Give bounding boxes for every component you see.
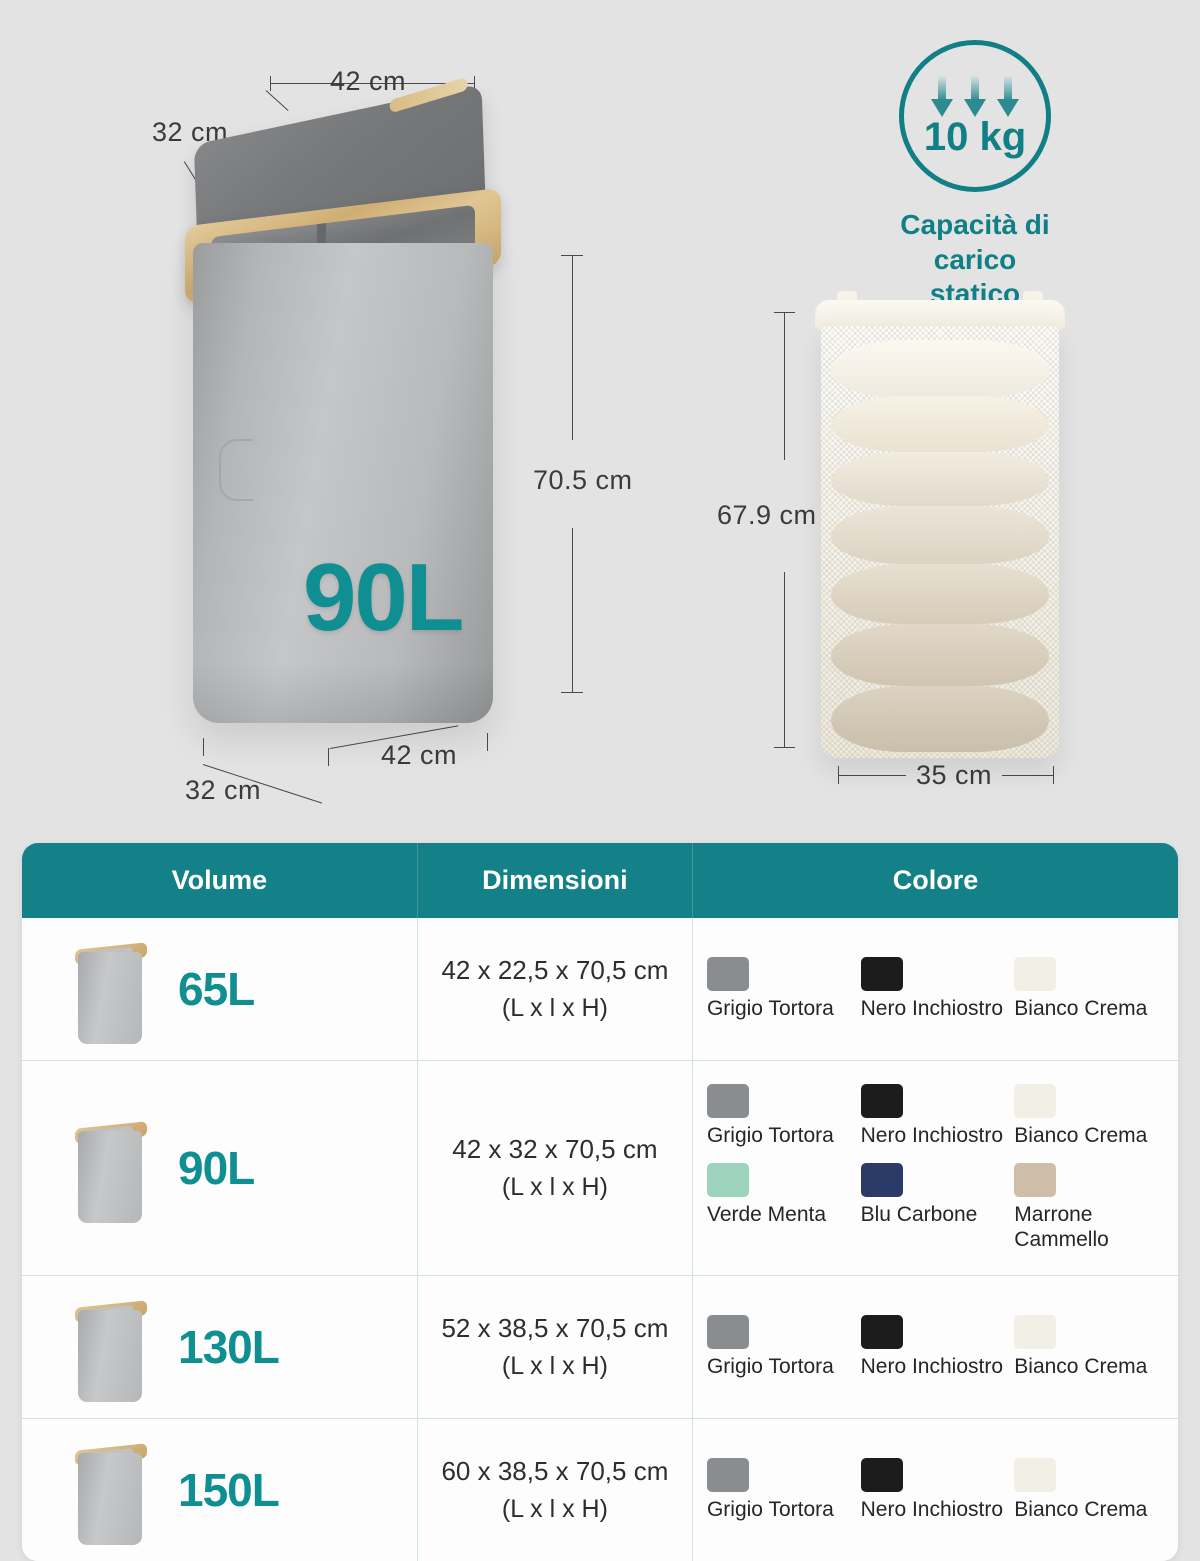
arrow-down-icon	[997, 75, 1019, 117]
volume-cell: 150L	[22, 1419, 417, 1561]
color-swatch[interactable]	[1014, 1315, 1056, 1349]
dimensions-value: 42 x 32 x 70,5 cm	[424, 1130, 686, 1169]
dimensions-cell: 52 x 38,5 x 70,5 cm(L x l x H)	[417, 1276, 692, 1419]
height-rule-upper	[572, 255, 573, 440]
color-swatch[interactable]	[707, 957, 749, 991]
volume-value: 130L	[178, 1320, 279, 1374]
volume-cell: 65L	[22, 918, 417, 1061]
colors-cell: Grigio TortoraNero InchiostroBianco Crem…	[692, 918, 1178, 1061]
column-header-volume: Volume	[22, 843, 417, 918]
bag-height-rule-upper	[784, 312, 785, 460]
arrow-down-icon	[931, 75, 953, 117]
column-header-colore: Colore	[692, 843, 1178, 918]
color-option[interactable]: Grigio Tortora	[707, 1077, 861, 1156]
color-swatch[interactable]	[861, 1458, 903, 1492]
volume-value: 90L	[178, 1141, 254, 1195]
colors-cell: Grigio TortoraNero InchiostroBianco Crem…	[692, 1276, 1178, 1419]
colors-cell: Grigio TortoraNero InchiostroBianco Crem…	[692, 1419, 1178, 1561]
color-name: Blu Carbone	[861, 1203, 1007, 1228]
dim-bag-width: 35 cm	[906, 760, 1002, 791]
hamper-body: 90L	[193, 243, 493, 723]
load-arrows-group	[931, 75, 1019, 117]
volume-value: 150L	[178, 1463, 279, 1517]
width-top-tick-left	[270, 76, 271, 91]
dim-depth-bottom: 32 cm	[185, 775, 261, 806]
color-swatch[interactable]	[707, 1315, 749, 1349]
table-row: 130L52 x 38,5 x 70,5 cm(L x l x H)Grigio…	[22, 1276, 1178, 1419]
color-name: Bianco Crema	[1014, 1498, 1160, 1523]
color-name: Nero Inchiostro	[861, 1355, 1007, 1380]
height-tick-top	[561, 255, 583, 256]
bag-width-tick-right	[1053, 766, 1054, 784]
color-options-grid: Grigio TortoraNero InchiostroBianco Crem…	[707, 1077, 1168, 1259]
dimensions-value: 52 x 38,5 x 70,5 cm	[424, 1309, 686, 1348]
color-swatch[interactable]	[861, 1084, 903, 1118]
color-option[interactable]: Nero Inchiostro	[861, 1451, 1015, 1530]
color-option[interactable]: Bianco Crema	[1014, 1077, 1168, 1156]
towel-item	[831, 396, 1050, 452]
dimensions-note: (L x l x H)	[424, 990, 686, 1028]
towel-item	[831, 686, 1050, 752]
hamper-volume-label: 90L	[303, 543, 462, 653]
color-name: Grigio Tortora	[707, 1355, 853, 1380]
color-option[interactable]: Blu Carbone	[861, 1156, 1015, 1260]
color-name: Grigio Tortora	[707, 997, 853, 1022]
color-options-grid: Grigio TortoraNero InchiostroBianco Crem…	[707, 1451, 1168, 1530]
color-option[interactable]: Nero Inchiostro	[861, 1308, 1015, 1387]
thumbnail-body	[78, 1131, 142, 1223]
color-option[interactable]: Bianco Crema	[1014, 1308, 1168, 1387]
dimensions-cell: 60 x 38,5 x 70,5 cm(L x l x H)	[417, 1419, 692, 1561]
color-option[interactable]: Grigio Tortora	[707, 950, 861, 1029]
color-name: Nero Inchiostro	[861, 1124, 1007, 1149]
dimensions-note: (L x l x H)	[424, 1169, 686, 1207]
volume-cell: 90L	[22, 1061, 417, 1276]
towel-item	[831, 624, 1050, 686]
hamper-illustration: 90L	[185, 95, 515, 755]
color-name: Bianco Crema	[1014, 997, 1160, 1022]
table-header-row: Volume Dimensioni Colore	[22, 843, 1178, 918]
color-option[interactable]: Grigio Tortora	[707, 1308, 861, 1387]
load-capacity-badge: 10 kg Capacità di carico statico	[860, 40, 1090, 312]
towel-item	[831, 452, 1050, 506]
bag-height-rule-lower	[784, 572, 785, 748]
color-name: Verde Menta	[707, 1203, 853, 1228]
dimensions-value: 42 x 22,5 x 70,5 cm	[424, 951, 686, 990]
volume-cell: 130L	[22, 1276, 417, 1419]
dimensions-note: (L x l x H)	[424, 1348, 686, 1386]
specifications-table: Volume Dimensioni Colore 65L42 x 22,5 x …	[22, 843, 1178, 1561]
color-swatch[interactable]	[707, 1084, 749, 1118]
height-tick-bottom	[561, 692, 583, 693]
color-options-grid: Grigio TortoraNero InchiostroBianco Crem…	[707, 1308, 1168, 1387]
color-option[interactable]: Bianco Crema	[1014, 1451, 1168, 1530]
color-swatch[interactable]	[1014, 1084, 1056, 1118]
hamper-handle	[219, 439, 253, 501]
mesh-bag-illustration	[815, 300, 1065, 760]
height-rule-lower	[572, 528, 573, 693]
product-thumbnail	[64, 1431, 156, 1549]
arrow-down-icon	[964, 75, 986, 117]
thumbnail-body	[78, 952, 142, 1044]
towel-item	[831, 340, 1050, 398]
color-swatch[interactable]	[861, 1163, 903, 1197]
thumbnail-body	[78, 1453, 142, 1545]
color-name: Grigio Tortora	[707, 1498, 853, 1523]
color-name: Bianco Crema	[1014, 1355, 1160, 1380]
dimensions-note: (L x l x H)	[424, 1491, 686, 1529]
volume-value: 65L	[178, 962, 254, 1016]
color-option[interactable]: Verde Menta	[707, 1156, 861, 1260]
bag-height-tick-bottom	[774, 747, 795, 748]
dimensions-cell: 42 x 22,5 x 70,5 cm(L x l x H)	[417, 918, 692, 1061]
table-row: 65L42 x 22,5 x 70,5 cm(L x l x H)Grigio …	[22, 918, 1178, 1061]
color-name: Marrone Cammello	[1014, 1203, 1160, 1253]
column-header-dimensions: Dimensioni	[417, 843, 692, 918]
bag-mesh-body	[821, 326, 1059, 758]
color-swatch[interactable]	[1014, 957, 1056, 991]
bag-height-tick-top	[774, 312, 795, 313]
towel-item	[831, 506, 1050, 564]
product-thumbnail	[64, 1109, 156, 1227]
dimensions-value: 60 x 38,5 x 70,5 cm	[424, 1452, 686, 1491]
color-name: Bianco Crema	[1014, 1124, 1160, 1149]
dim-bag-height: 67.9 cm	[717, 500, 817, 531]
color-name: Nero Inchiostro	[861, 1498, 1007, 1523]
load-capacity-value: 10 kg	[924, 117, 1026, 157]
towel-item	[831, 564, 1050, 624]
dim-width-top: 42 cm	[330, 66, 406, 97]
color-swatch[interactable]	[861, 1315, 903, 1349]
hero-section: 42 cm 32 cm 70.5 cm 32 cm 42 cm 90L	[0, 0, 1200, 830]
dimensions-cell: 42 x 32 x 70,5 cm(L x l x H)	[417, 1061, 692, 1276]
load-caption-line1: Capacità di carico	[860, 208, 1090, 277]
color-option[interactable]: Nero Inchiostro	[861, 1077, 1015, 1156]
color-option[interactable]: Bianco Crema	[1014, 950, 1168, 1029]
color-name: Nero Inchiostro	[861, 997, 1007, 1022]
colors-cell: Grigio TortoraNero InchiostroBianco Crem…	[692, 1061, 1178, 1276]
color-option[interactable]: Grigio Tortora	[707, 1451, 861, 1530]
thumbnail-body	[78, 1310, 142, 1402]
table-row: 150L60 x 38,5 x 70,5 cm(L x l x H)Grigio…	[22, 1419, 1178, 1561]
product-thumbnail	[64, 930, 156, 1048]
table-row: 90L42 x 32 x 70,5 cm(L x l x H)Grigio To…	[22, 1061, 1178, 1276]
load-capacity-circle: 10 kg	[899, 40, 1051, 192]
color-swatch[interactable]	[861, 957, 903, 991]
color-swatch[interactable]	[707, 1163, 749, 1197]
color-options-grid: Grigio TortoraNero InchiostroBianco Crem…	[707, 950, 1168, 1029]
dim-height: 70.5 cm	[533, 465, 633, 496]
color-name: Grigio Tortora	[707, 1124, 853, 1149]
color-option[interactable]: Marrone Cammello	[1014, 1156, 1168, 1260]
color-swatch[interactable]	[1014, 1163, 1056, 1197]
color-swatch[interactable]	[707, 1458, 749, 1492]
color-swatch[interactable]	[1014, 1458, 1056, 1492]
load-capacity-caption: Capacità di carico statico	[860, 208, 1090, 312]
product-thumbnail	[64, 1288, 156, 1406]
color-option[interactable]: Nero Inchiostro	[861, 950, 1015, 1029]
bag-width-tick-left	[838, 766, 839, 784]
table-body: 65L42 x 22,5 x 70,5 cm(L x l x H)Grigio …	[22, 918, 1178, 1561]
